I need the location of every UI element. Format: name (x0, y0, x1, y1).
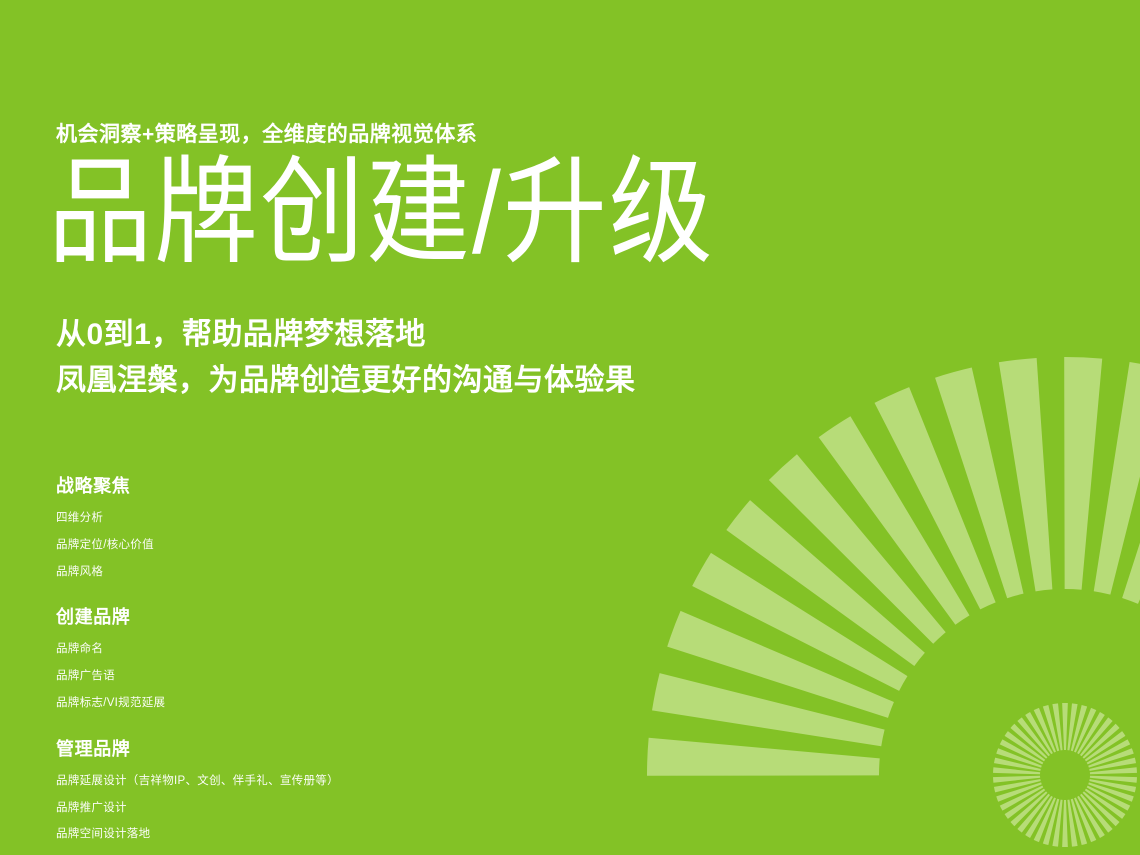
lede-block: 从0到1，帮助品牌梦想落地 凤凰涅槃，为品牌创造更好的沟通与体验果 (56, 312, 636, 403)
poster-canvas: 机会洞察+策略呈现，全维度的品牌视觉体系 品牌创建/升级 从0到1，帮助品牌梦想… (0, 0, 1140, 855)
section-item: 品牌命名 (56, 643, 486, 657)
section-item: 品牌标志/VI规范延展 (56, 697, 486, 711)
section-title: 管理品牌 (56, 735, 486, 761)
section-item: 品牌推广设计 (56, 802, 486, 816)
eyebrow-text: 机会洞察+策略呈现，全维度的品牌视觉体系 (56, 118, 477, 148)
section-item: 品牌空间设计落地 (56, 828, 486, 842)
section-create-brand: 创建品牌 品牌命名 品牌广告语 品牌标志/VI规范延展 (56, 603, 486, 710)
section-item: 四维分析 (56, 512, 486, 526)
inner-ray-group (993, 703, 1137, 847)
section-strategy: 战略聚焦 四维分析 品牌定位/核心价值 品牌风格 (56, 472, 486, 579)
section-item: 品牌风格 (56, 566, 486, 580)
page-title: 品牌创建/升级 (48, 155, 715, 271)
section-title: 创建品牌 (56, 603, 486, 629)
service-sections: 战略聚焦 四维分析 品牌定位/核心价值 品牌风格 创建品牌 品牌命名 品牌广告语… (56, 472, 486, 842)
lede-line-2: 凤凰涅槃，为品牌创造更好的沟通与体验果 (56, 358, 636, 404)
section-title: 战略聚焦 (56, 472, 486, 498)
section-item: 品牌定位/核心价值 (56, 539, 486, 553)
section-manage-brand: 管理品牌 品牌延展设计（吉祥物IP、文创、伴手礼、宣传册等） 品牌推广设计 品牌… (56, 735, 486, 842)
section-item: 品牌广告语 (56, 670, 486, 684)
lede-line-1: 从0到1，帮助品牌梦想落地 (56, 312, 636, 358)
section-item: 品牌延展设计（吉祥物IP、文创、伴手礼、宣传册等） (56, 775, 486, 789)
outer-ray-group (647, 357, 1140, 776)
